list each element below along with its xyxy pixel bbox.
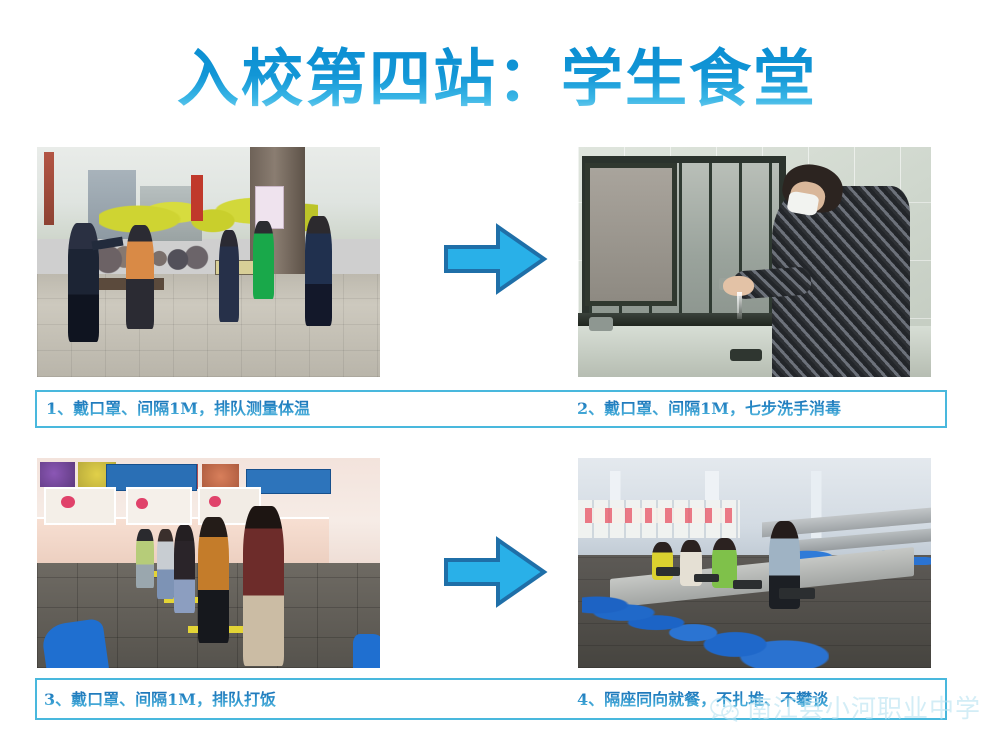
window-number-badge-3 xyxy=(209,496,221,508)
photo-dining-hall-seating xyxy=(578,458,931,668)
menu-photo-4 xyxy=(202,464,240,489)
page-title-container: 入校第四站：学生食堂 xyxy=(0,44,994,114)
blue-chair-right xyxy=(353,634,380,668)
wall-signage xyxy=(585,508,733,523)
meal-tray-2 xyxy=(694,574,719,582)
photo-2-content xyxy=(578,147,931,377)
page-title: 入校第四站：学生食堂 xyxy=(177,44,817,114)
menu-photo-1 xyxy=(40,462,74,487)
student-queue-5 xyxy=(243,506,284,666)
red-banner-pole xyxy=(44,152,54,226)
photo-4-content xyxy=(578,458,931,668)
water-stream xyxy=(737,292,742,320)
person-security-guard xyxy=(305,216,332,326)
photo-1-content xyxy=(37,147,380,377)
caption-step-2: 2、戴口罩、间隔1M，七步洗手消毒 xyxy=(577,399,841,419)
faucet-left xyxy=(589,317,614,331)
person-green-jacket xyxy=(253,221,274,299)
student-queue-3 xyxy=(174,525,195,613)
window-number-badge-1 xyxy=(61,496,75,509)
flow-arrow-1 xyxy=(440,220,550,298)
caption-step-1: 1、戴口罩、间隔1M，排队测量体温 xyxy=(46,399,310,419)
photo-hand-washing-sink xyxy=(578,147,931,377)
photo-canteen-queue xyxy=(37,458,380,668)
student-queue-4 xyxy=(198,517,229,643)
student-queue-1 xyxy=(136,529,153,588)
person-student-waiting xyxy=(219,230,240,322)
meal-tray-1 xyxy=(656,567,681,575)
slide-root: 入校第四站：学生食堂 xyxy=(0,0,994,751)
caption-step-3: 3、戴口罩、间隔1M，排队打饭 xyxy=(44,690,276,710)
person-student-orange-coat xyxy=(126,225,153,329)
floor-drain xyxy=(730,349,762,361)
red-sign xyxy=(191,175,203,221)
serving-window-1 xyxy=(44,487,117,525)
outer-window-pane xyxy=(585,163,677,306)
caption-step-4: 4、隔座同向就餐，不扎堆、不攀谈 xyxy=(577,690,828,710)
flow-arrow-2 xyxy=(440,533,550,611)
student-queue-2 xyxy=(157,529,174,598)
photo-3-content xyxy=(37,458,380,668)
blue-chairs-foreground xyxy=(582,584,829,668)
photo-school-gate-temperature-check xyxy=(37,147,380,377)
